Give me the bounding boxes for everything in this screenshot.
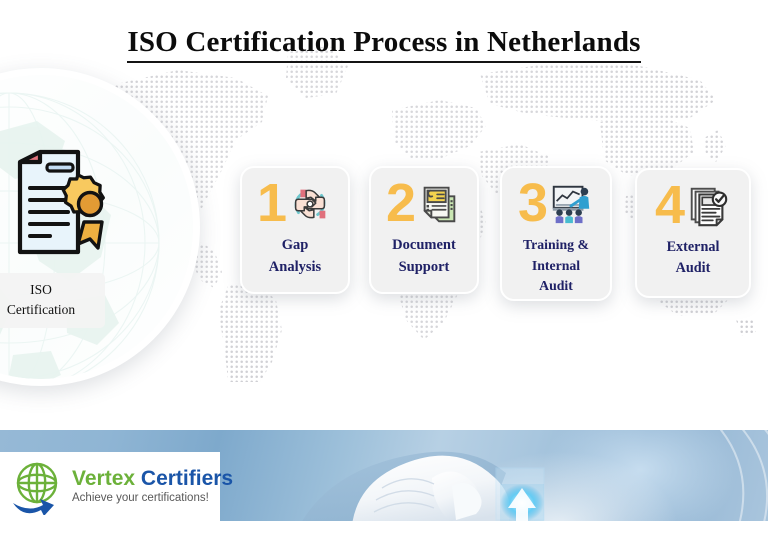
step-card-document-support[interactable]: 2 xyxy=(369,166,479,294)
step-label-3: Training & Internal Audit xyxy=(517,229,595,306)
handshake-collaboration-icon xyxy=(287,181,333,227)
step-label-2: Document Support xyxy=(386,229,462,288)
brand-tagline: Achieve your certifications! xyxy=(72,492,233,506)
document-check-audit-icon xyxy=(685,183,731,229)
page-title: ISO Certification Process in Netherlands xyxy=(127,26,640,63)
step-card-header: 1 xyxy=(242,168,348,229)
step-card-header: 2 xyxy=(371,168,477,229)
step-label-4-line-2: Audit xyxy=(667,258,720,279)
step-card-header: 3 xyxy=(502,168,610,229)
step-card-training-internal-audit[interactable]: 3 xyxy=(500,166,612,301)
step-label-2-line-2: Support xyxy=(392,257,456,278)
step-label-1-line-1: Gap xyxy=(269,235,321,256)
training-presentation-icon xyxy=(548,181,594,227)
step-label-4: External Audit xyxy=(661,231,726,289)
brand-name: Vertex Certifiers xyxy=(72,468,233,490)
step-card-external-audit[interactable]: 4 xyxy=(635,168,751,298)
brand-name-second: Certifiers xyxy=(141,467,233,490)
step-number-3: 3 xyxy=(518,178,546,229)
document-stack-icon xyxy=(416,181,462,227)
step-card-header: 4 xyxy=(637,170,749,231)
footer-band: Vertex Certifiers Achieve your certifica… xyxy=(0,430,768,543)
infographic-poster: ISO Certification Process in Netherlands xyxy=(0,0,768,543)
step-label-1-line-2: Analysis xyxy=(269,257,321,278)
step-number-2: 2 xyxy=(386,178,414,229)
step-label-4-line-1: External xyxy=(667,237,720,258)
step-label-1: Gap Analysis xyxy=(263,229,327,288)
vertex-certifiers-logo[interactable]: Vertex Certifiers Achieve your certifica… xyxy=(0,452,220,521)
page-title-container: ISO Certification Process in Netherlands xyxy=(0,26,768,63)
step-label-3-line-1: Training & xyxy=(523,235,589,255)
globe-arrow-logo-icon xyxy=(9,459,69,515)
logo-text-block: Vertex Certifiers Achieve your certifica… xyxy=(72,468,233,506)
step-label-3-line-3: Audit xyxy=(523,276,589,296)
step-number-1: 1 xyxy=(257,178,285,229)
step-label-2-line-1: Document xyxy=(392,235,456,256)
brand-name-first: Vertex xyxy=(72,467,135,490)
step-number-4: 4 xyxy=(655,180,683,231)
step-card-gap-analysis[interactable]: 1 Gap Analysis xyxy=(240,166,350,294)
step-label-3-line-2: Internal xyxy=(523,256,589,276)
